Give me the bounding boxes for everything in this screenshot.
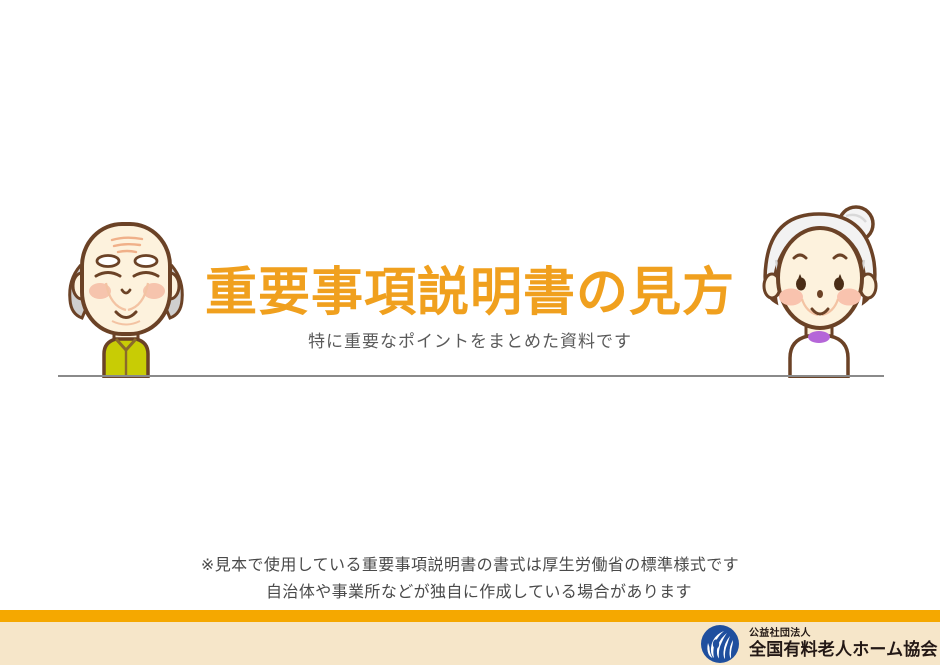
organization-type: 公益社団法人 <box>749 628 938 640</box>
organization-text: 公益社団法人 全国有料老人ホーム協会 <box>749 628 938 660</box>
organization-brand: 公益社団法人 全国有料老人ホーム協会 <box>700 624 938 664</box>
horizontal-divider <box>58 375 884 377</box>
page-subtitle: 特に重要なポイントをまとめた資料です <box>0 330 940 354</box>
footnote-block: ※見本で使用している重要事項説明書の書式は厚生労働省の標準様式です 自治体や事業… <box>0 552 940 606</box>
footer-accent-bar <box>0 610 940 622</box>
page-title: 重要事項説明書の見方 <box>0 262 940 324</box>
footnote-line-1: ※見本で使用している重要事項説明書の書式は厚生労働省の標準様式です <box>0 552 940 579</box>
organization-name: 全国有料老人ホーム協会 <box>749 640 938 660</box>
footnote-line-2: 自治体や事業所などが独自に作成している場合があります <box>0 579 940 606</box>
slide-canvas: 重要事項説明書の見方 特に重要なポイントをまとめた資料です ※見本で使用している… <box>0 0 940 665</box>
association-logo-icon <box>700 624 740 664</box>
title-block: 重要事項説明書の見方 特に重要なポイントをまとめた資料です <box>0 262 940 354</box>
